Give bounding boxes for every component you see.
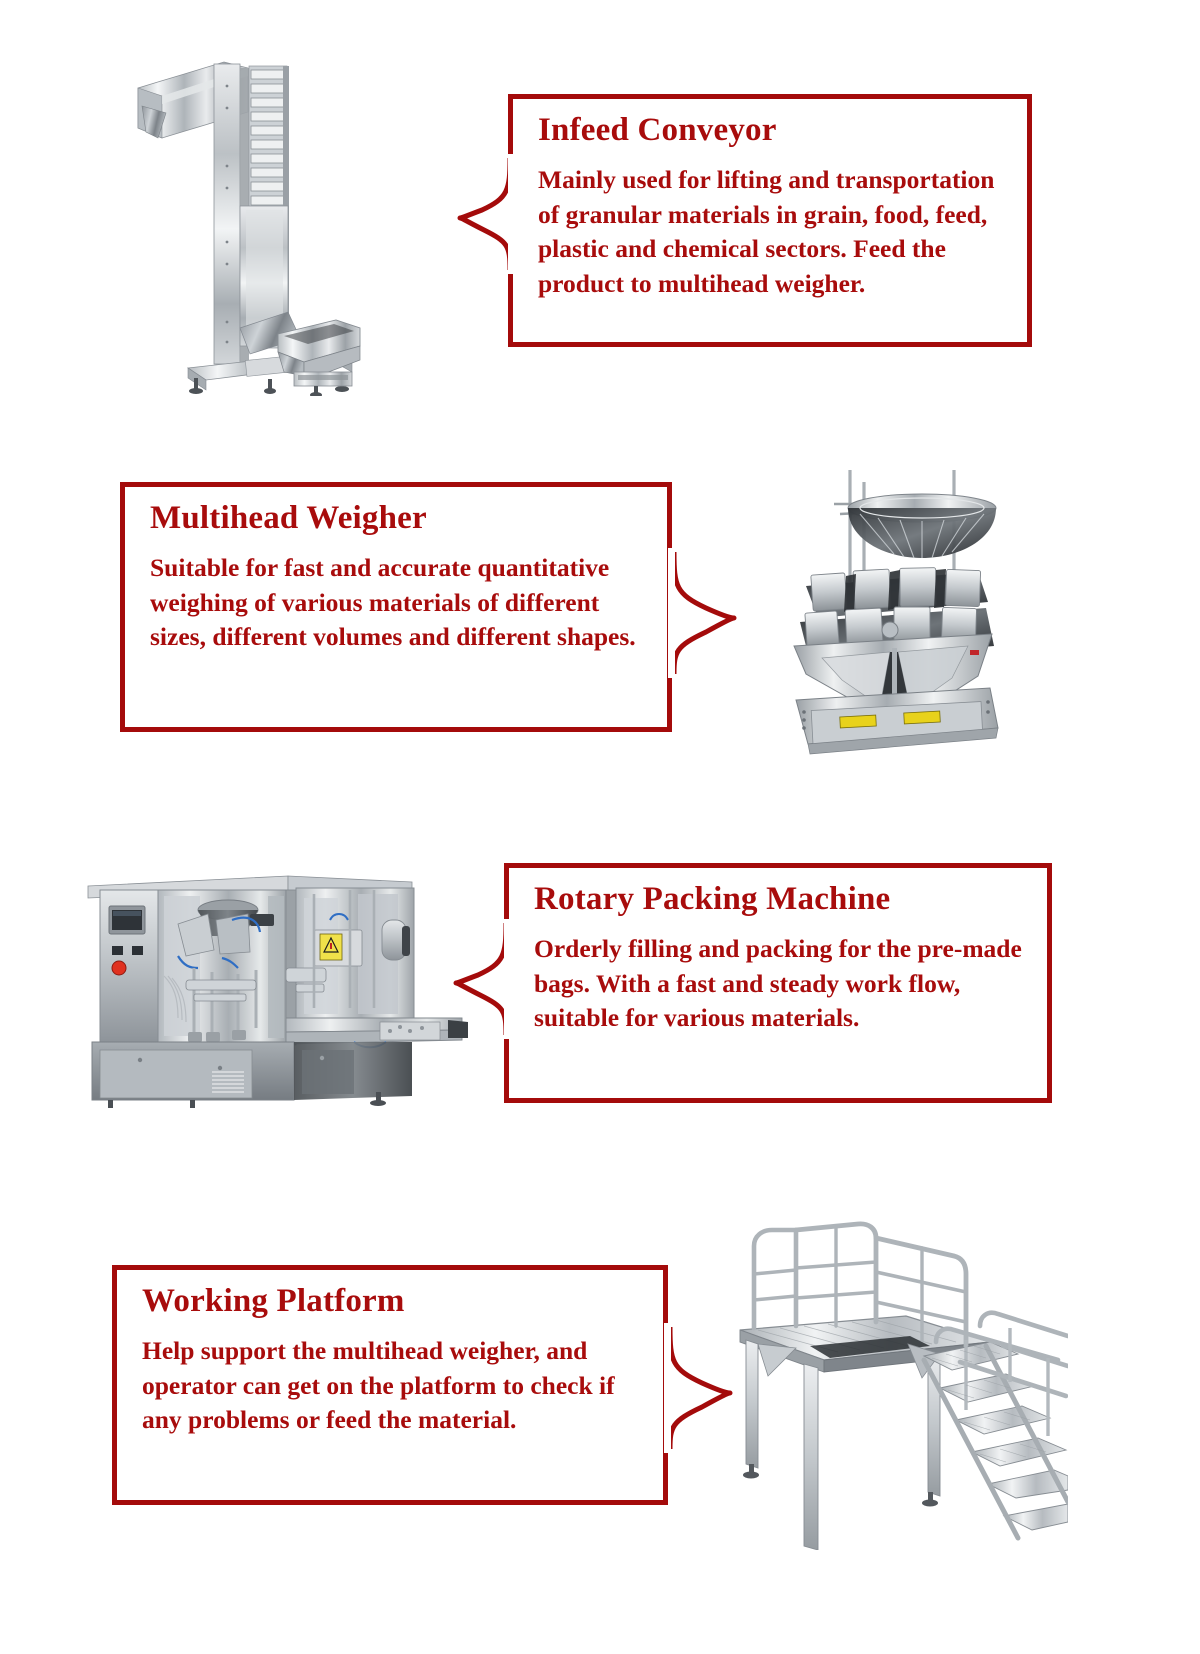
callout-rotary-packing-machine: Rotary Packing Machine Orderly filling a… [504,863,1052,1103]
machine-base [92,1042,412,1100]
infeed-conveyor-illustration [128,46,368,396]
control-cabinet [100,890,158,1042]
callout-multihead-weigher: Multihead Weigher Suitable for fast and … [120,482,672,732]
callout-tail-left [446,154,516,274]
callout-title: Working Platform [142,1283,642,1321]
warning-label [840,715,877,728]
push-button [132,946,143,955]
emergency-stop-button [112,961,126,975]
base-cabinet [796,688,998,754]
callout-body: Mainly used for lifting and transportati… [538,163,1006,302]
working-platform-image [718,1150,1068,1550]
callout-infeed-conveyor: Infeed Conveyor Mainly used for lifting … [508,94,1032,347]
callout-title: Rotary Packing Machine [534,881,1026,919]
infeed-conveyor-image [128,46,368,396]
rotary-packing-machine-image [82,828,482,1108]
dispersion-cone [848,494,996,558]
poster-canvas: Infeed Conveyor Mainly used for lifting … [0,0,1200,1654]
callout-working-platform: Working Platform Help support the multih… [112,1265,668,1505]
callout-body: Orderly filling and packing for the pre-… [534,932,1026,1036]
callout-title: Multihead Weigher [150,500,646,538]
callout-body: Suitable for fast and accurate quantitat… [150,551,646,655]
multihead-weigher-image [782,462,1002,762]
multihead-weigher-illustration [782,462,1002,762]
right-station [286,888,414,1040]
warning-triangle-label [320,934,342,960]
callout-tail-right [664,548,764,678]
callout-body: Help support the multihead weigher, and … [142,1334,642,1438]
adjustable-feet [743,1464,938,1507]
callout-title: Infeed Conveyor [538,112,1006,150]
feed-hopper [278,320,360,396]
working-platform-illustration [718,1150,1068,1550]
platform-legs [746,1340,940,1550]
warning-label [904,711,941,724]
push-button [112,946,123,955]
rotary-packing-machine-illustration [82,828,482,1108]
